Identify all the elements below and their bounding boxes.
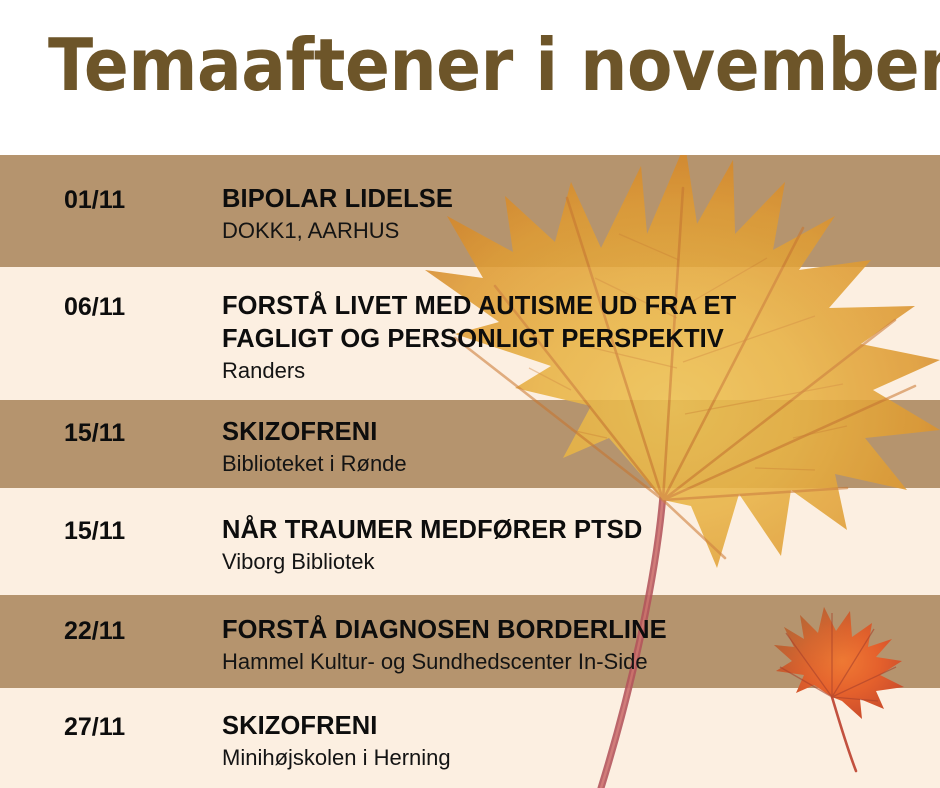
event-date: 01/11: [64, 186, 125, 215]
event-date: 22/11: [64, 617, 125, 646]
event-date: 06/11: [64, 293, 125, 322]
event-row[interactable]: 15/11SKIZOFRENIBiblioteket i Rønde: [0, 400, 940, 488]
event-row[interactable]: 27/11SKIZOFRENIMinihøjskolen i Herning: [0, 688, 940, 788]
event-venue: DOKK1, AARHUS: [222, 218, 399, 244]
event-row[interactable]: 22/11FORSTÅ DIAGNOSEN BORDERLINEHammel K…: [0, 595, 940, 688]
page-title: Temaaftener i november: [48, 26, 940, 104]
event-venue: Minihøjskolen i Herning: [222, 745, 451, 771]
event-venue: Hammel Kultur- og Sundhedscenter In-Side: [222, 649, 648, 675]
event-date: 27/11: [64, 713, 125, 742]
poster-canvas: Temaaftener i november 01/11BIPOLAR LIDE…: [0, 0, 940, 788]
event-date: 15/11: [64, 517, 125, 546]
event-date: 15/11: [64, 419, 125, 448]
event-title: NÅR TRAUMER MEDFØRER PTSD: [222, 514, 642, 546]
event-row[interactable]: 06/11FORSTÅ LIVET MED AUTISME UD FRA ETF…: [0, 267, 940, 400]
event-title: SKIZOFRENI: [222, 710, 377, 742]
event-row[interactable]: 15/11NÅR TRAUMER MEDFØRER PTSDViborg Bib…: [0, 488, 940, 595]
event-row[interactable]: 01/11BIPOLAR LIDELSEDOKK1, AARHUS: [0, 155, 940, 267]
header-band: Temaaftener i november: [0, 0, 940, 155]
event-title: FAGLIGT OG PERSONLIGT PERSPEKTIV: [222, 323, 724, 355]
event-title: BIPOLAR LIDELSE: [222, 183, 453, 215]
event-title: SKIZOFRENI: [222, 416, 377, 448]
event-title: FORSTÅ DIAGNOSEN BORDERLINE: [222, 614, 667, 646]
event-title: FORSTÅ LIVET MED AUTISME UD FRA ET: [222, 290, 736, 322]
event-venue: Randers: [222, 358, 305, 384]
event-venue: Biblioteket i Rønde: [222, 451, 407, 477]
event-venue: Viborg Bibliotek: [222, 549, 374, 575]
